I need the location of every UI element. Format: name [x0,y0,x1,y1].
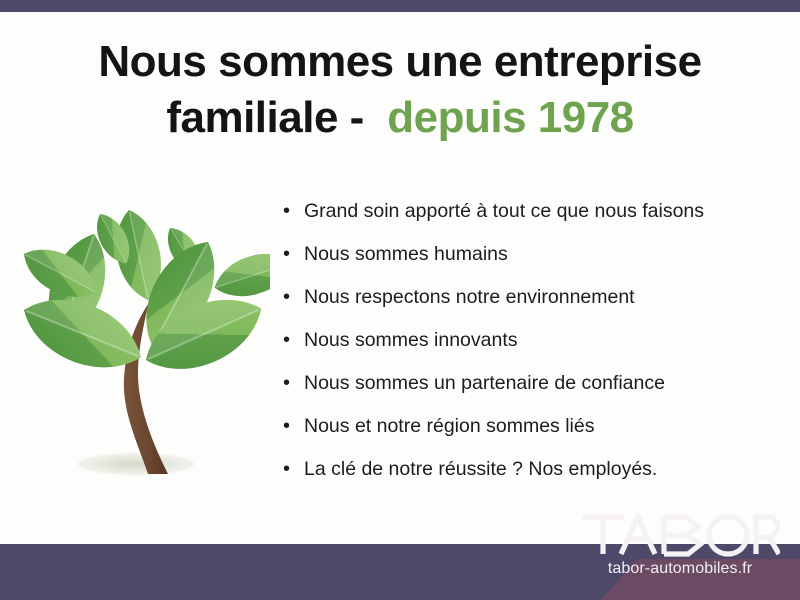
list-item: • Nous sommes innovants [283,319,783,362]
list-item-label: Nous respectons notre environnement [304,276,635,319]
bullet-marker-icon: • [283,276,304,319]
bullet-marker-icon: • [283,319,304,362]
tree-leaf [209,244,270,306]
list-item-label: Nous et notre région sommes liés [304,405,594,448]
bullet-marker-icon: • [283,448,304,491]
page-title: Nous sommes une entreprise familiale - d… [40,34,760,147]
list-item-label: Nous sommes innovants [304,319,518,362]
brand-logo[interactable]: tabor-automobiles.fr [560,503,800,600]
page-title-line-1: Nous sommes une entreprise [40,34,760,90]
page-title-accent: depuis 1978 [387,93,633,142]
bullet-marker-icon: • [283,190,304,233]
tree-illustration [18,192,270,492]
page-title-line-2: familiale - depuis 1978 [40,90,760,146]
list-item-label: Grand soin apporté à tout ce que nous fa… [304,190,704,233]
top-accent-bar [0,0,800,12]
value-bullet-list: • Grand soin apporté à tout ce que nous … [283,190,783,491]
list-item: • Grand soin apporté à tout ce que nous … [283,190,783,233]
list-item-label: Nous sommes un partenaire de confiance [304,362,665,405]
list-item-label: Nous sommes humains [304,233,508,276]
list-item: • La clé de notre réussite ? Nos employé… [283,448,783,491]
bullet-marker-icon: • [283,405,304,448]
list-item: • Nous et notre région sommes liés [283,405,783,448]
list-item: • Nous sommes humains [283,233,783,276]
list-item: • Nous respectons notre environnement [283,276,783,319]
list-item: • Nous sommes un partenaire de confiance [283,362,783,405]
slide-canvas: Nous sommes une entreprise familiale - d… [0,0,800,600]
bullet-marker-icon: • [283,233,304,276]
page-title-line-2-plain: familiale - [166,93,363,142]
logo-tagline: tabor-automobiles.fr [560,560,800,578]
tree-shadow [78,453,194,475]
bullet-marker-icon: • [283,362,304,405]
logo-wordmark [560,513,800,557]
list-item-label: La clé de notre réussite ? Nos employés. [304,448,657,491]
